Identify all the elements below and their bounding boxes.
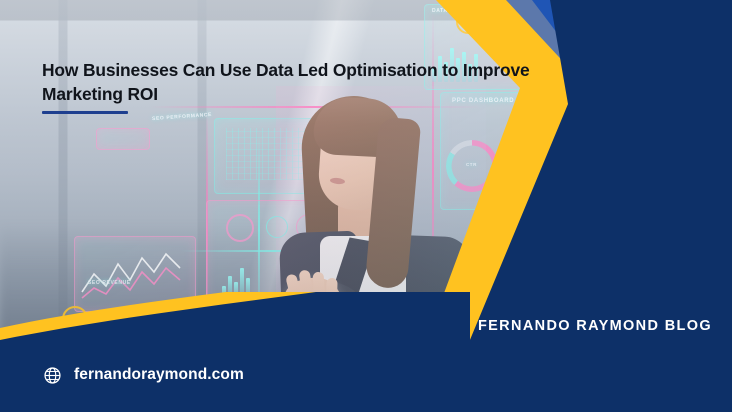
holo-ring xyxy=(226,214,254,242)
blog-featured-banner: DATA SYSTEM SEO PERFORMANCE PPC DASHBOAR… xyxy=(0,0,732,412)
page-title: How Businesses Can Use Data Led Optimisa… xyxy=(42,58,534,106)
website-url-row[interactable]: fernandoraymond.com xyxy=(44,366,244,384)
holo-chip xyxy=(96,128,150,150)
navy-arc xyxy=(0,292,470,412)
blog-brand-label: FERNANDO RAYMOND BLOG xyxy=(478,318,712,334)
title-underline-rule xyxy=(42,111,128,114)
website-url-text: fernandoraymond.com xyxy=(74,366,244,384)
globe-icon xyxy=(44,367,61,384)
holo-label-seo-performance: SEO PERFORMANCE xyxy=(152,112,212,122)
holo-label-seo-revenue: SEO REVENUE xyxy=(88,280,131,286)
bottom-ribbon xyxy=(0,292,732,412)
